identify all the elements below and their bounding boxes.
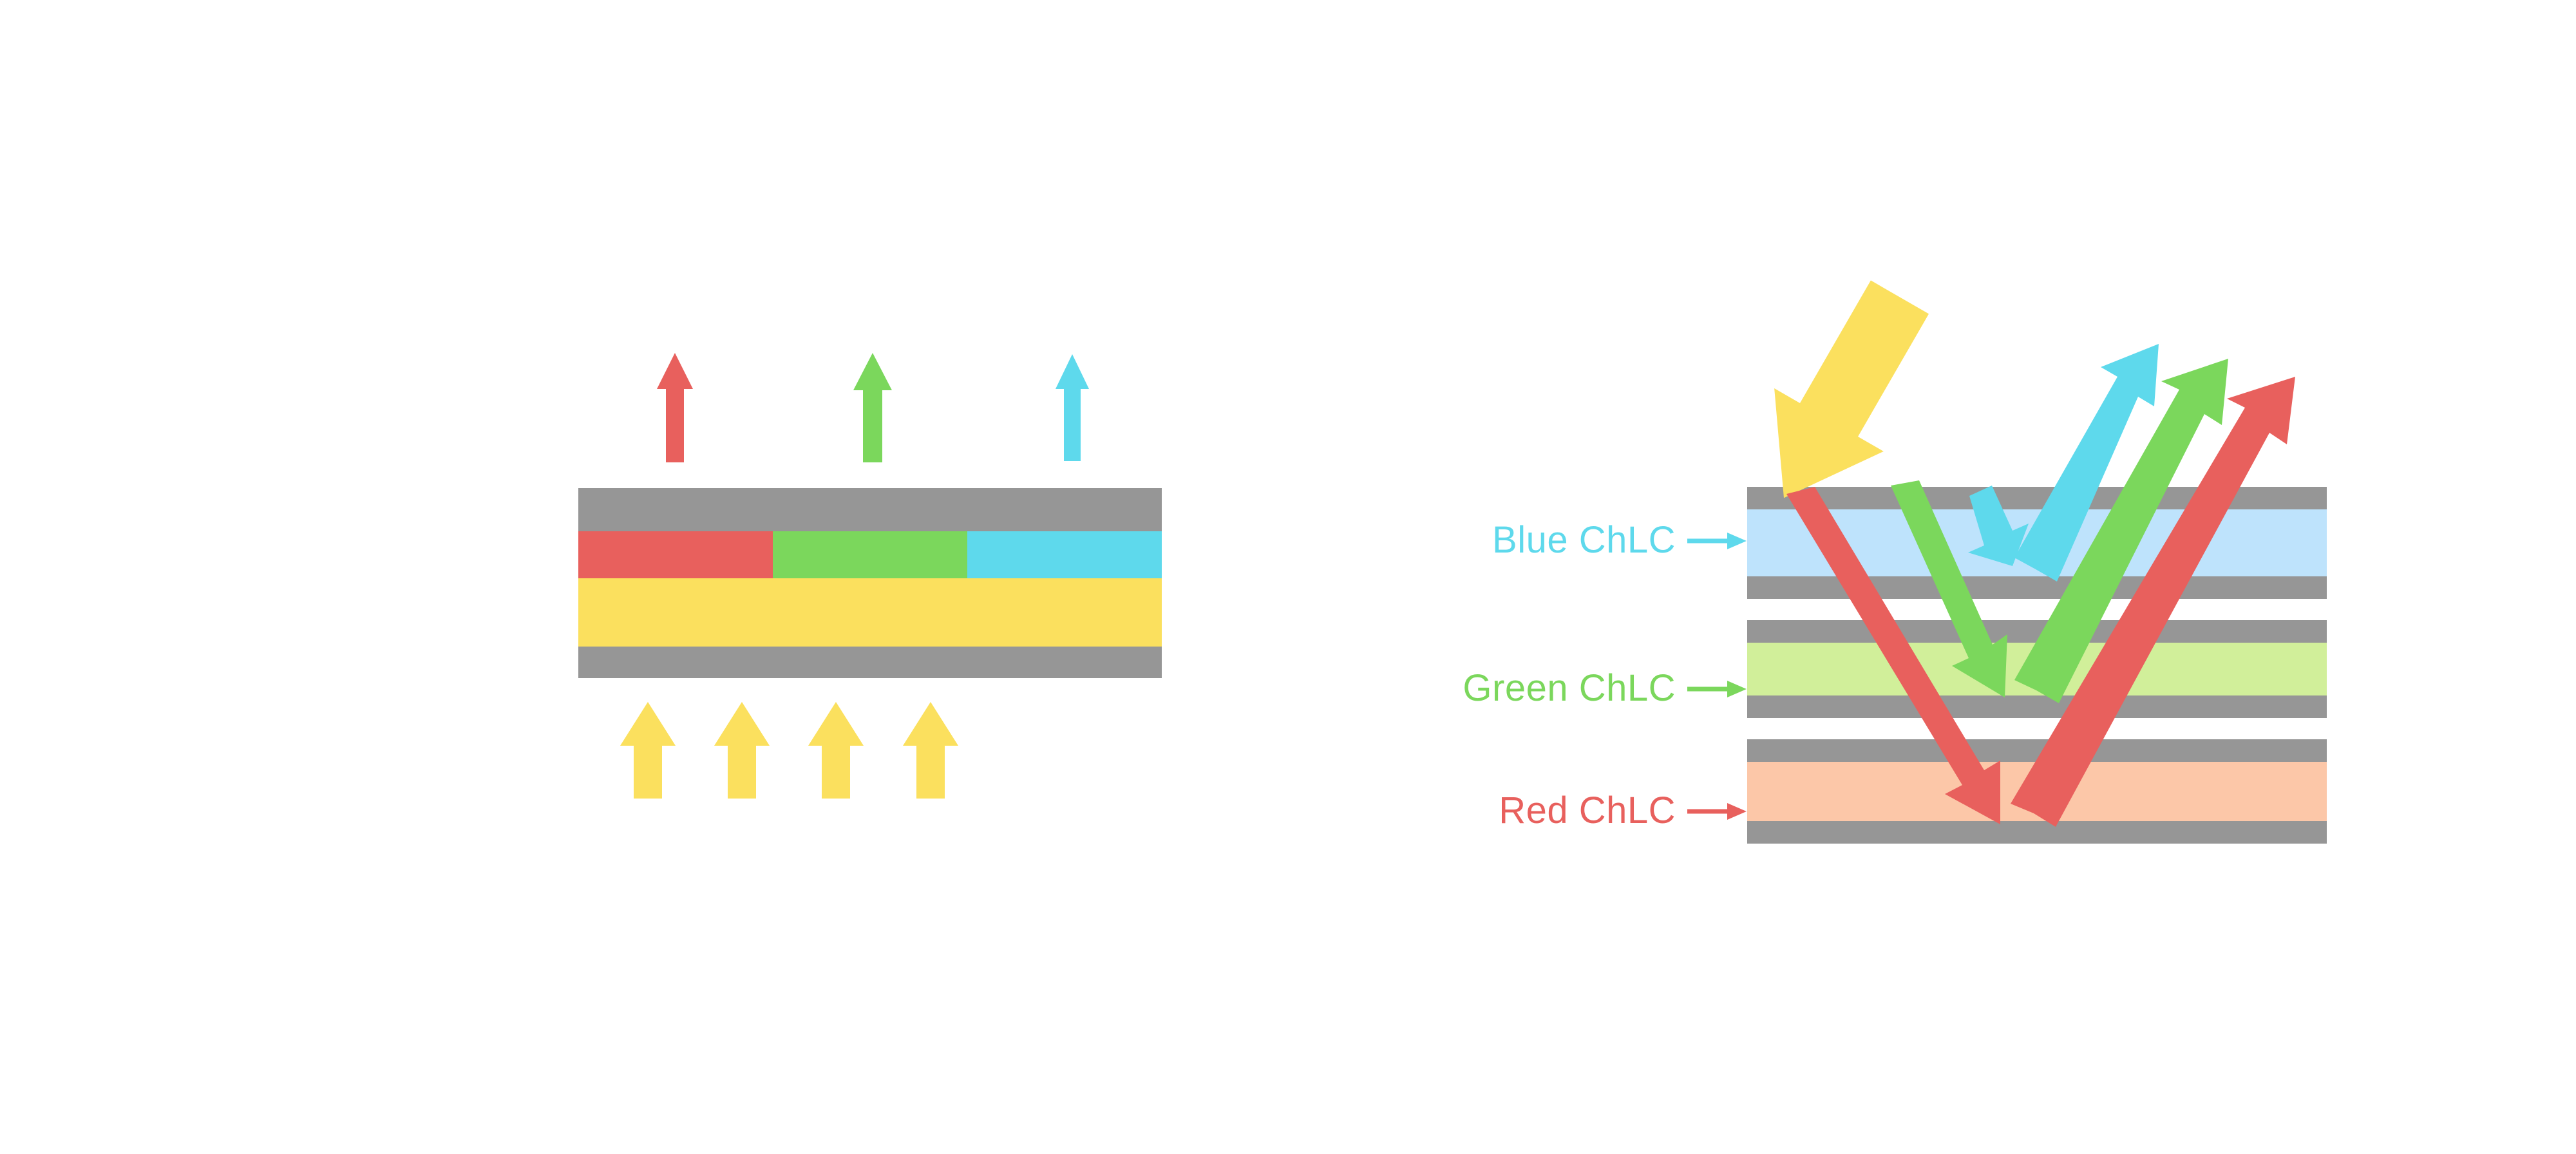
red-chlc-label-text: Red ChLC xyxy=(1499,790,1676,831)
right-panel-labels: Blue ChLC Green ChLC Red ChLC xyxy=(0,0,2576,1154)
blue-chlc-label-arrow-icon xyxy=(1687,533,1747,549)
red-chlc-label-arrow-icon xyxy=(1687,803,1747,820)
green-chlc-label-text: Green ChLC xyxy=(1463,667,1676,709)
diagram-canvas: Blue ChLC Green ChLC Red ChLC xyxy=(0,0,2576,1154)
blue-chlc-label-text: Blue ChLC xyxy=(1492,519,1676,561)
blue-chlc-label: Blue ChLC xyxy=(1492,519,1747,561)
green-chlc-label-arrow-icon xyxy=(1687,681,1747,697)
red-chlc-label: Red ChLC xyxy=(1499,790,1747,831)
green-chlc-label: Green ChLC xyxy=(1463,667,1747,709)
